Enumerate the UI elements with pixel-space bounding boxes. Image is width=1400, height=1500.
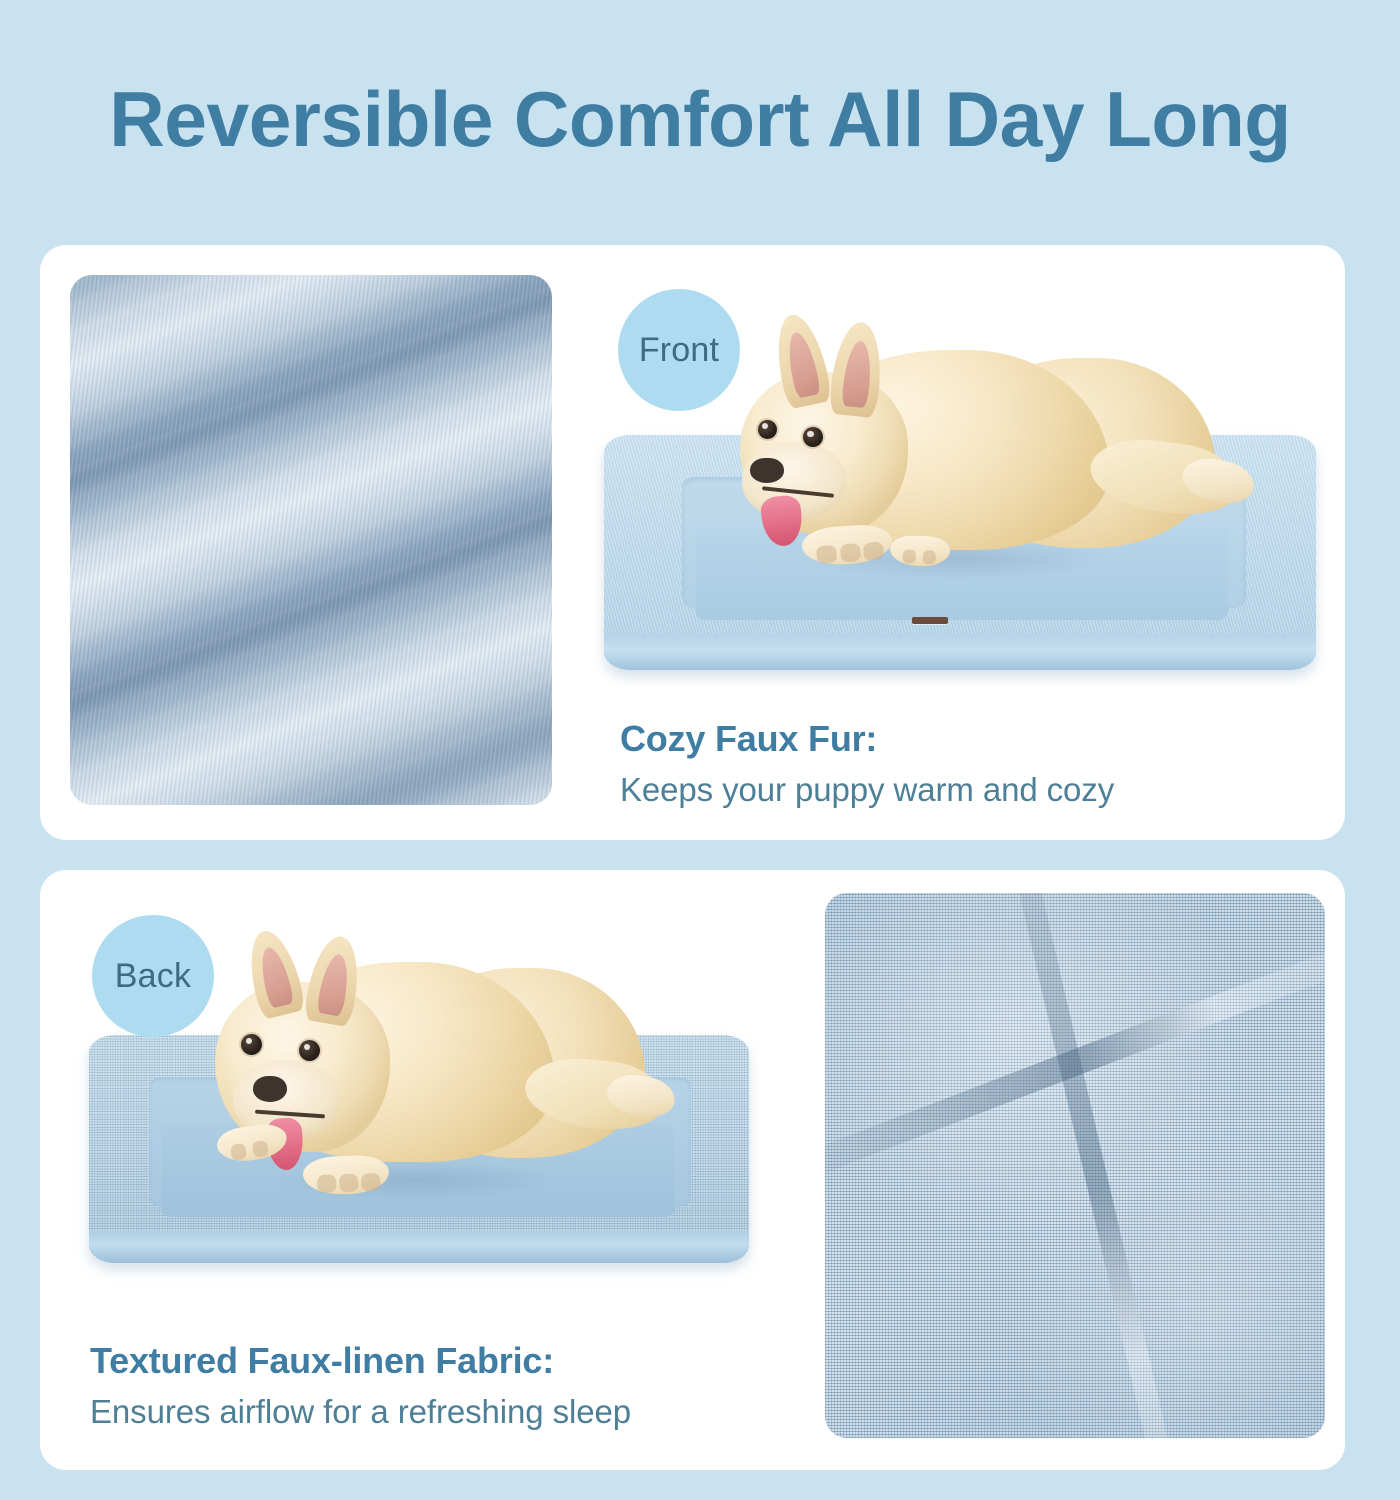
caption-back: Textured Faux-linen Fabric: Ensures airf…	[90, 1338, 631, 1434]
dog-toe	[923, 550, 937, 564]
brand-label-tag	[912, 617, 948, 624]
dog-toe	[840, 543, 861, 562]
dog-ear-right-inner	[841, 340, 874, 408]
mat-front-edge	[89, 1231, 749, 1263]
dog-ear-left-inner	[784, 330, 822, 398]
dog-ear-right-inner	[316, 952, 353, 1017]
badge-back: Back	[92, 915, 214, 1037]
dog-eye-right	[299, 1040, 320, 1061]
dog-nose	[750, 458, 784, 483]
dog-toe	[252, 1140, 269, 1158]
dog-eye-left	[241, 1034, 262, 1055]
linen-sheen	[825, 893, 1325, 1438]
dog-toe	[361, 1173, 381, 1191]
dog-toe	[816, 545, 837, 564]
dog-toe	[317, 1175, 337, 1193]
caption-back-title: Textured Faux-linen Fabric:	[90, 1338, 631, 1383]
caption-front: Cozy Faux Fur: Keeps your puppy warm and…	[620, 716, 1114, 812]
dog-eye-left	[758, 420, 777, 439]
caption-front-subtitle: Keeps your puppy warm and cozy	[620, 769, 1114, 812]
dog-ear-left-inner	[256, 945, 295, 1010]
dog-toe	[863, 542, 884, 561]
faux-linen-texture-swatch	[825, 893, 1325, 1438]
dog-toe	[230, 1143, 247, 1161]
caption-front-title: Cozy Faux Fur:	[620, 716, 1114, 761]
badge-front: Front	[618, 289, 740, 411]
dog-front-paw-right	[302, 1155, 389, 1196]
mat-front-edge	[604, 634, 1316, 670]
dog-eye-right	[803, 427, 823, 447]
faux-fur-texture-swatch	[70, 275, 552, 805]
page-title: Reversible Comfort All Day Long	[11, 74, 1390, 165]
caption-back-subtitle: Ensures airflow for a refreshing sleep	[90, 1391, 631, 1434]
dog-toe	[903, 550, 917, 564]
dog-toe	[339, 1174, 359, 1192]
dog-nose	[253, 1076, 287, 1102]
